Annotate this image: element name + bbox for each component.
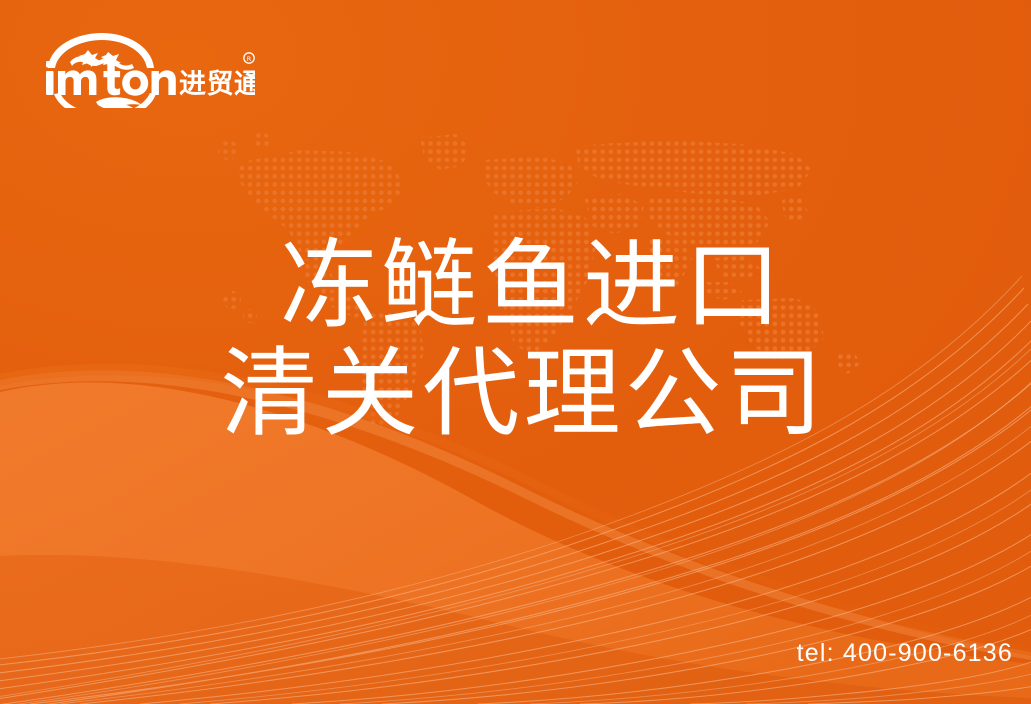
logo-wordmark: [46, 61, 176, 96]
headline-block: 冻鲢鱼进口 清关代理公司: [0, 232, 1031, 448]
promotional-banner: 进贸通 R 冻鲢鱼进口 清关代理公司 tel: 400-900-6136: [0, 0, 1031, 704]
headline-line-1: 冻鲢鱼进口: [0, 232, 1031, 340]
logo-chinese-name: 进贸通: [179, 69, 255, 100]
headline-line-2: 清关代理公司: [0, 340, 1031, 448]
globe-arc-icon: [48, 33, 154, 70]
registered-trademark-letter: R: [247, 55, 252, 63]
contact-phone[interactable]: tel: 400-900-6136: [797, 639, 1013, 668]
swoosh-arrow-icon: [52, 92, 158, 108]
company-logo[interactable]: 进贸通 R: [40, 30, 255, 108]
